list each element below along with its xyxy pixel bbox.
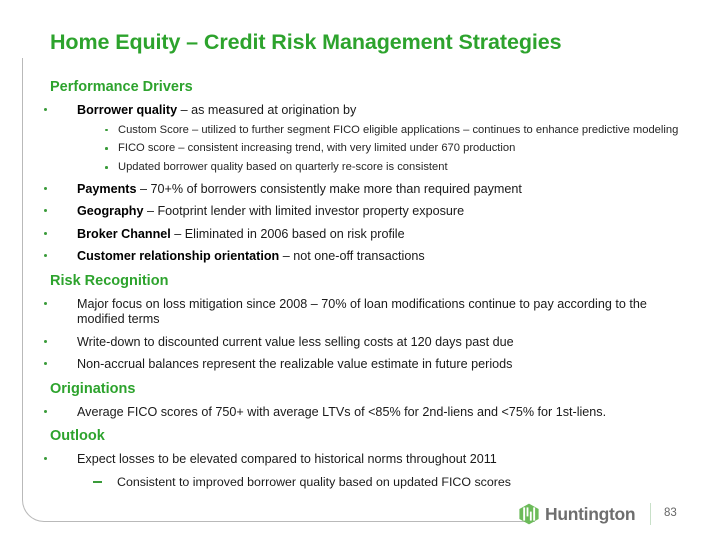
section-heading: Originations: [50, 380, 720, 398]
bullet-item: Broker Channel – Eliminated in 2006 base…: [44, 227, 720, 243]
bullet-dot-icon: [44, 209, 47, 212]
bullet-dot-icon: [44, 410, 47, 413]
bullet-item: Payments – 70+% of borrowers consistentl…: [44, 182, 720, 198]
bullet-dot-icon: [44, 362, 47, 365]
huntington-logo-icon: [518, 503, 540, 525]
bullet-dot-icon: [44, 302, 47, 305]
sub-bullet-item: FICO score – consistent increasing trend…: [105, 142, 720, 156]
huntington-brand: Huntington: [518, 503, 635, 525]
bullet-item: Write-down to discounted current value l…: [44, 335, 720, 351]
bullet-dot-icon: [44, 340, 47, 343]
huntington-wordmark: Huntington: [545, 504, 635, 524]
bullet-lead-text: Customer relationship orientation: [77, 249, 279, 263]
bullet-text: – Eliminated in 2006 based on risk profi…: [171, 227, 405, 241]
bullet-dot-icon: [44, 457, 47, 460]
section-heading: Risk Recognition: [50, 272, 720, 290]
bullet-text: Average FICO scores of 750+ with average…: [77, 405, 606, 419]
sub-bullet-item: Custom Score – utilized to further segme…: [105, 124, 720, 138]
bullet-item: Geography – Footprint lender with limite…: [44, 204, 720, 220]
dash-sub-bullet-item: Consistent to improved borrower quality …: [93, 475, 720, 491]
sub-bullet-text: Updated borrower quality based on quarte…: [118, 161, 448, 173]
bullet-item: Non-accrual balances represent the reali…: [44, 357, 720, 373]
slide-content: Performance DriversBorrower quality – as…: [0, 78, 720, 490]
sub-bullet-dot-icon: [105, 166, 108, 169]
bullet-dot-icon: [44, 187, 47, 190]
bullet-item: Average FICO scores of 750+ with average…: [44, 405, 720, 421]
sub-bullet-text: FICO score – consistent increasing trend…: [118, 142, 515, 154]
page-number-divider: [650, 503, 651, 525]
bullet-text: Non-accrual balances represent the reali…: [77, 357, 512, 371]
bullet-item: Major focus on loss mitigation since 200…: [44, 297, 720, 328]
section-heading: Performance Drivers: [50, 78, 720, 96]
bullet-dot-icon: [44, 254, 47, 257]
bullet-text: – as measured at origination by: [177, 103, 356, 117]
bullet-lead-text: Borrower quality: [77, 103, 177, 117]
bullet-item: Customer relationship orientation – not …: [44, 249, 720, 265]
sub-bullet-item: Updated borrower quality based on quarte…: [105, 161, 720, 175]
bullet-lead-text: Payments: [77, 182, 137, 196]
dash-sub-bullet-text: Consistent to improved borrower quality …: [117, 475, 511, 489]
dash-bullet-icon: [93, 481, 102, 483]
section-heading: Outlook: [50, 427, 720, 445]
bullet-lead-text: Geography: [77, 204, 143, 218]
sub-bullet-text: Custom Score – utilized to further segme…: [118, 124, 678, 136]
bullet-text: – Footprint lender with limited investor…: [143, 204, 464, 218]
bullet-text: Write-down to discounted current value l…: [77, 335, 514, 349]
bullet-dot-icon: [44, 232, 47, 235]
sub-bullet-dot-icon: [105, 129, 108, 132]
bullet-text: Expect losses to be elevated compared to…: [77, 452, 497, 466]
sub-bullet-dot-icon: [105, 147, 108, 150]
bullet-text: – 70+% of borrowers consistently make mo…: [137, 182, 522, 196]
bullet-item: Expect losses to be elevated compared to…: [44, 452, 720, 468]
page-title: Home Equity – Credit Risk Management Str…: [50, 30, 700, 55]
bullet-text: Major focus on loss mitigation since 200…: [77, 297, 647, 327]
page-number: 83: [664, 507, 677, 519]
bullet-item: Borrower quality – as measured at origin…: [44, 103, 720, 119]
bullet-dot-icon: [44, 108, 47, 111]
bullet-lead-text: Broker Channel: [77, 227, 171, 241]
bullet-text: – not one-off transactions: [279, 249, 424, 263]
slide: Home Equity – Credit Risk Management Str…: [0, 0, 720, 540]
